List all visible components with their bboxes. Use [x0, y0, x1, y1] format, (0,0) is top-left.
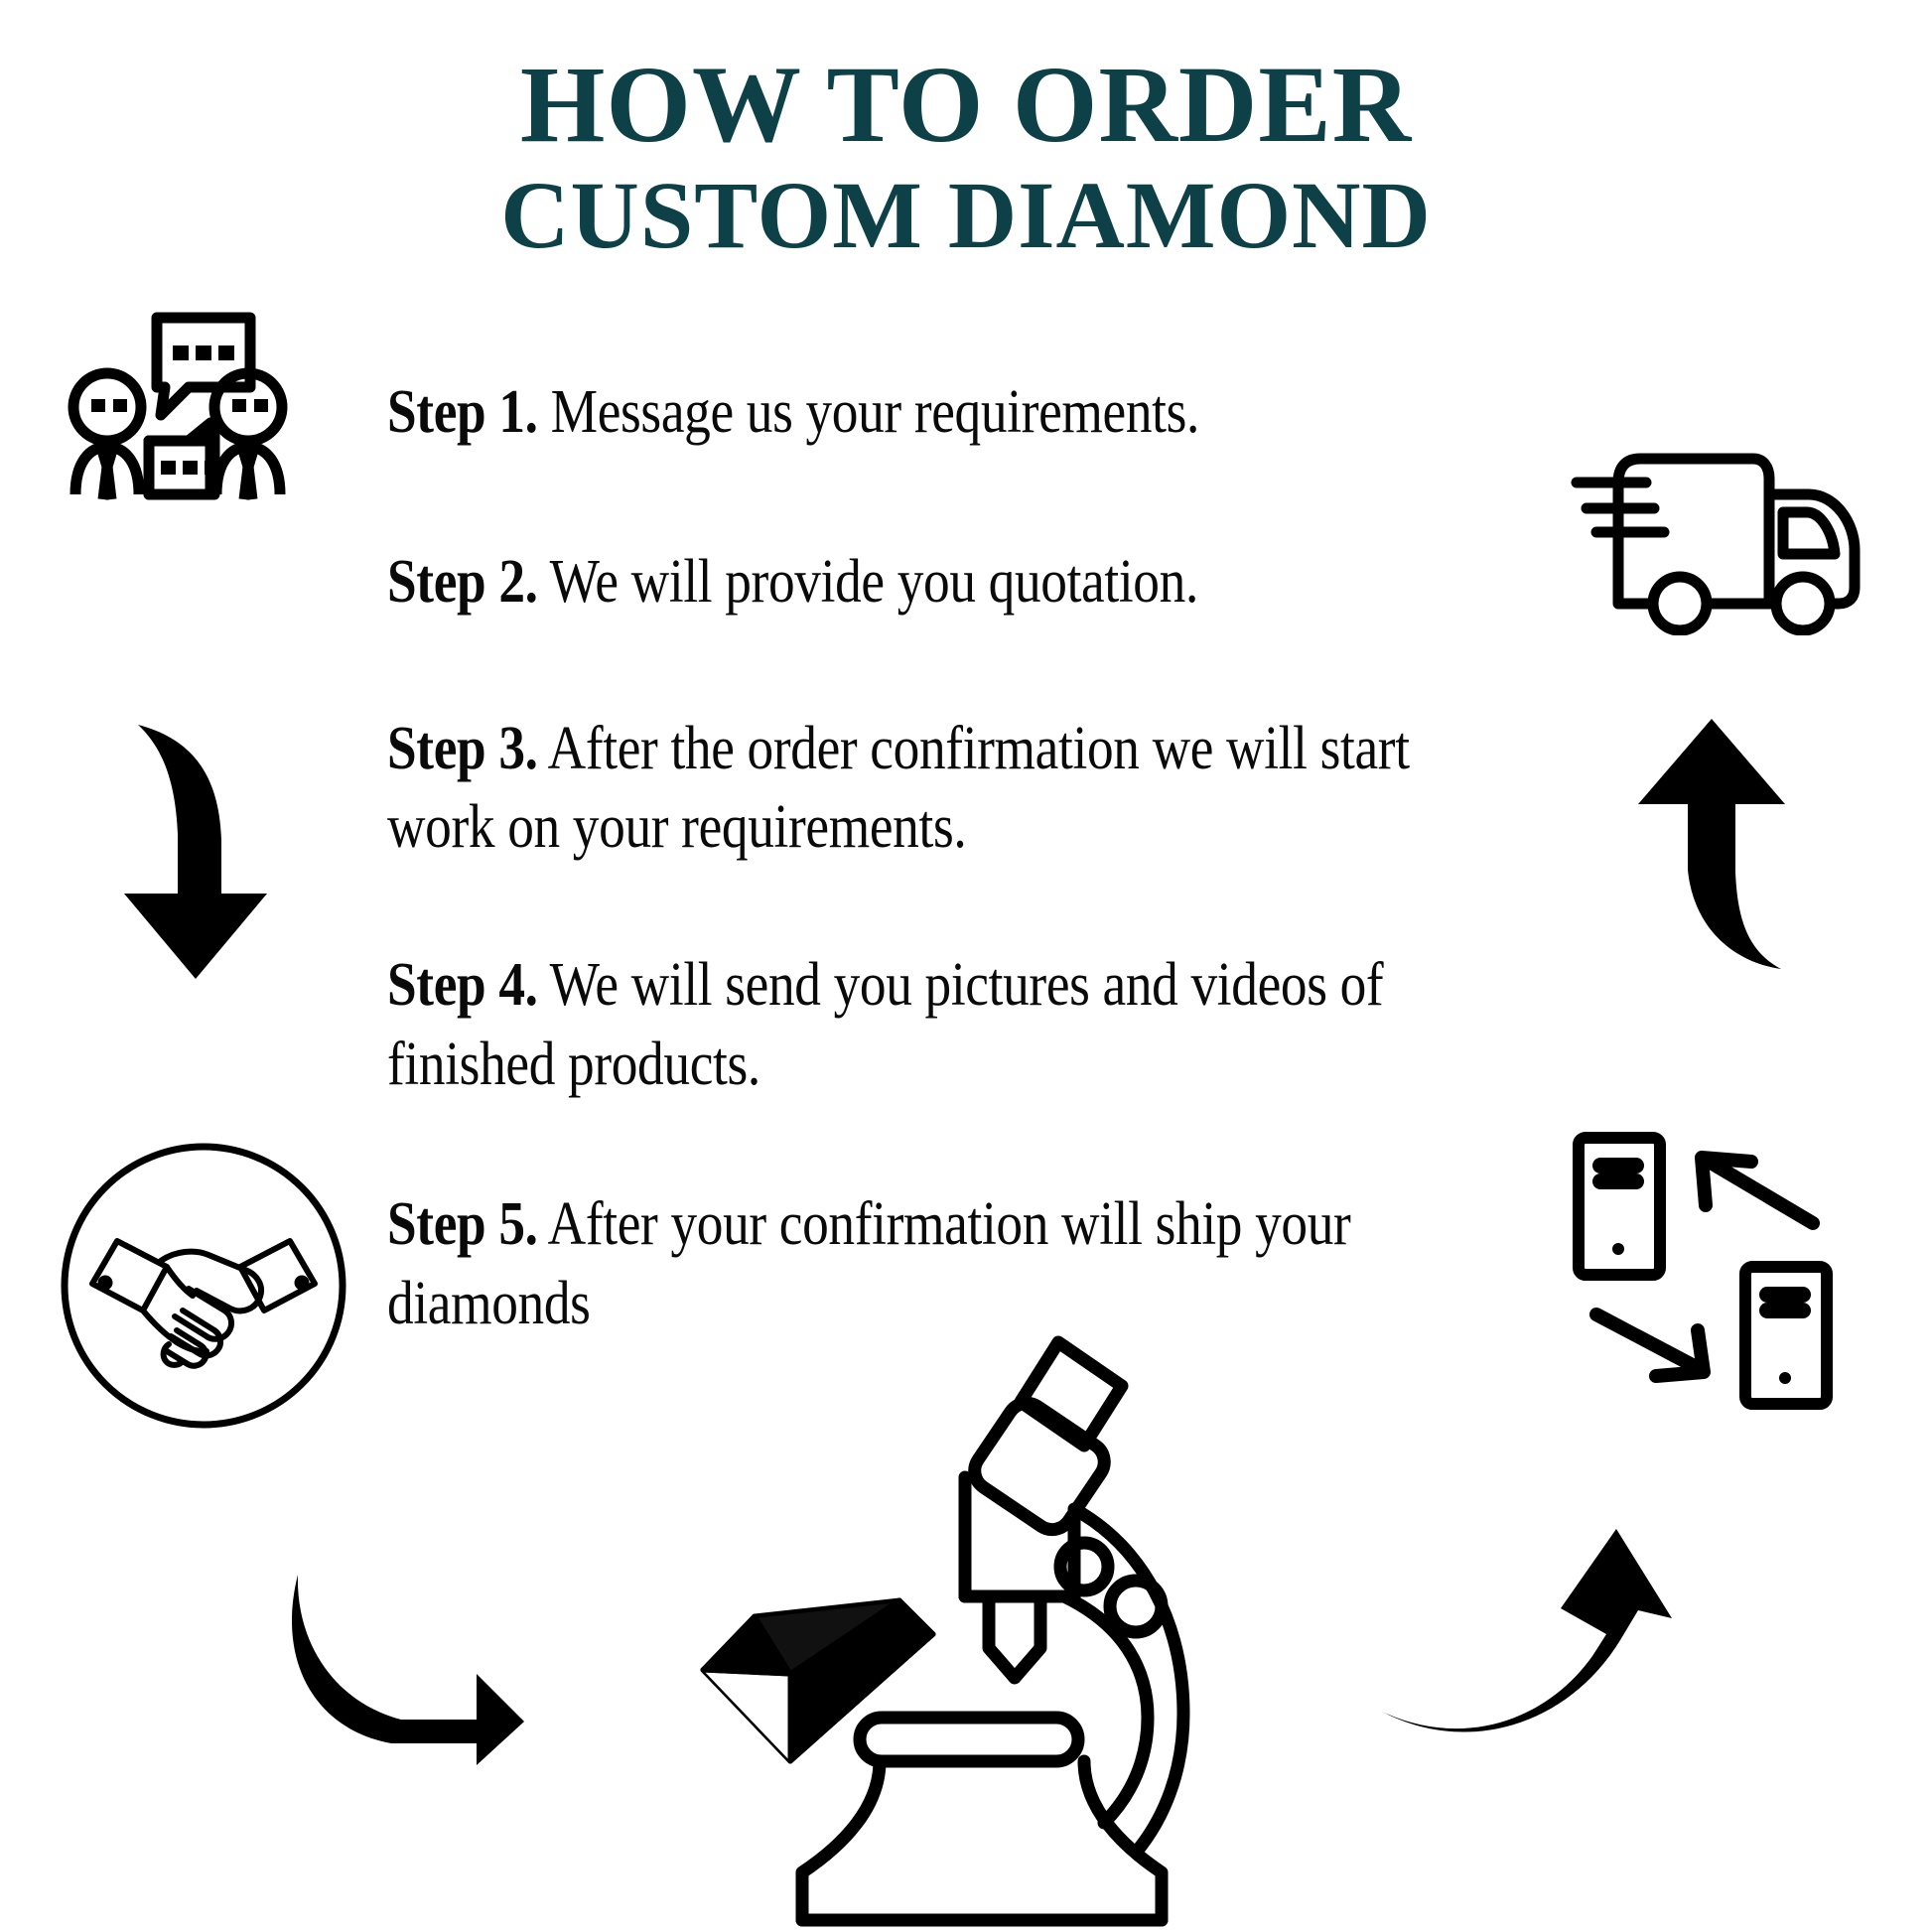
- step-label-2: Step 2.: [387, 548, 538, 616]
- arrow-down-icon: [104, 707, 293, 985]
- arrow-curve-right-icon: [226, 1517, 524, 1765]
- step-label-3: Step 3.: [387, 715, 538, 782]
- title-line-1: HOW TO ORDER: [0, 48, 1932, 163]
- step-body-1: Message us your requirements.: [538, 378, 1199, 446]
- step-item-1: Step 1. Message us your requirements.: [387, 373, 1416, 452]
- page-title: HOW TO ORDER CUSTOM DIAMOND: [0, 48, 1932, 267]
- arrow-up-icon: [1616, 713, 1810, 976]
- delivery-truck-icon: [1569, 437, 1876, 635]
- steps-list: Step 1. Message us your requirements. St…: [387, 373, 1584, 1343]
- microscope-diamond-icon: [695, 1320, 1211, 1932]
- step-item-2: Step 2. We will provide you quotation.: [387, 543, 1416, 621]
- step-label-1: Step 1.: [387, 378, 538, 446]
- people-chat-icon: [40, 296, 288, 532]
- step-item-3: Step 3. After the order confirmation we …: [387, 710, 1416, 868]
- title-line-2: CUSTOM DIAMOND: [0, 163, 1932, 268]
- step-body-4: We will send you pictures and videos of …: [387, 951, 1383, 1097]
- step-label-5: Step 5.: [387, 1190, 538, 1258]
- arrow-curve-up-icon: [1378, 1517, 1686, 1770]
- step-label-4: Step 4.: [387, 951, 538, 1019]
- handshake-icon: [58, 1140, 350, 1433]
- step-item-4: Step 4. We will send you pictures and vi…: [387, 946, 1416, 1104]
- phone-transfer-icon: [1557, 1120, 1850, 1413]
- step-body-3: After the order confirmation we will sta…: [387, 715, 1410, 861]
- step-body-2: We will provide you quotation.: [538, 548, 1198, 616]
